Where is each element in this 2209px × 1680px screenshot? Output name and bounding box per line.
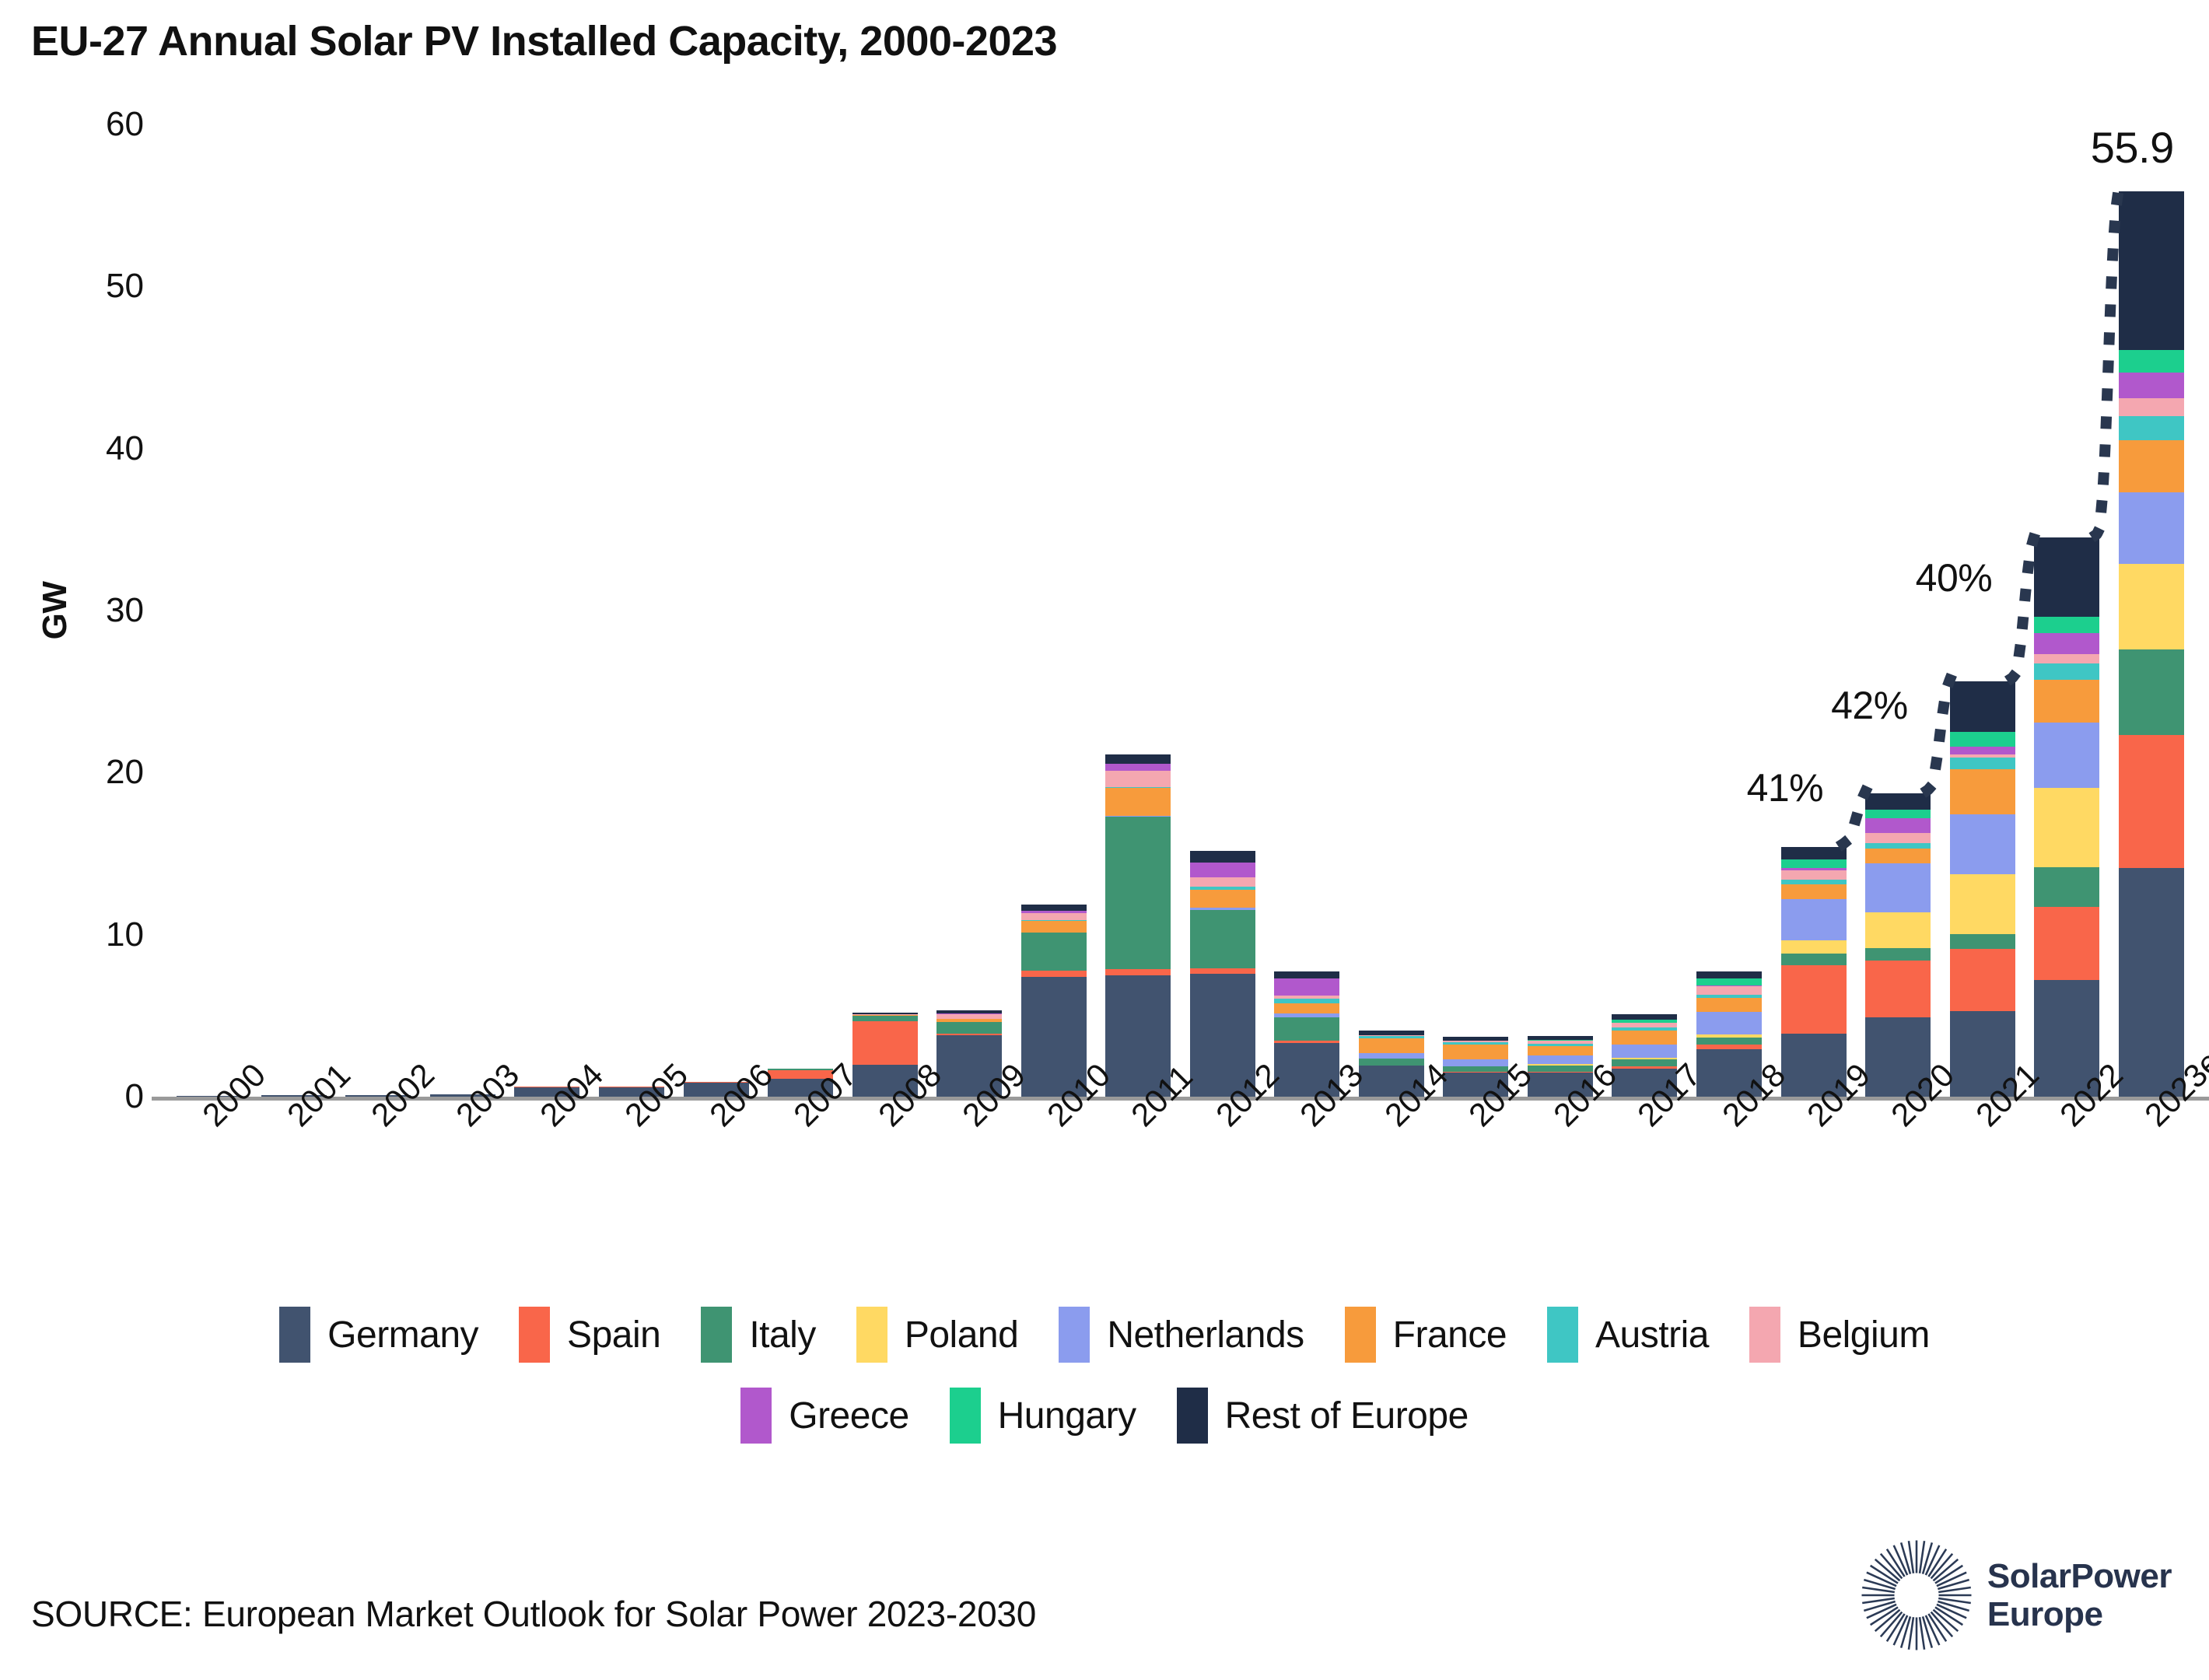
bar-segment[interactable]: [1696, 978, 1762, 985]
brand-line-1: SolarPower: [1987, 1557, 2172, 1595]
bar-segment[interactable]: [1612, 1045, 1677, 1059]
bar-segment[interactable]: [1781, 847, 1847, 859]
bar-segment[interactable]: [1274, 978, 1339, 996]
y-axis-tick: 30: [106, 591, 144, 630]
legend-item[interactable]: Rest of Europe: [1177, 1388, 1469, 1444]
bar-stack: [1190, 851, 1255, 1097]
bar-segment[interactable]: [1528, 1046, 1593, 1055]
bar-stack: [1105, 754, 1171, 1097]
legend-swatch: [701, 1307, 732, 1363]
bar-segment[interactable]: [2034, 663, 2099, 680]
bar-segment[interactable]: [2034, 537, 2099, 617]
bar-segment[interactable]: [2119, 735, 2184, 868]
bar-stack: [2119, 191, 2184, 1097]
legend-label: Rest of Europe: [1225, 1395, 1469, 1437]
bar-segment[interactable]: [1950, 769, 2015, 814]
legend-item[interactable]: Spain: [519, 1307, 660, 1363]
legend-swatch: [950, 1388, 981, 1444]
bar-segment[interactable]: [2119, 440, 2184, 492]
bar-segment[interactable]: [1950, 758, 2015, 769]
bar-segment[interactable]: [1105, 764, 1171, 771]
bar-segment[interactable]: [1696, 998, 1762, 1013]
sunburst-icon: [1858, 1537, 1975, 1654]
legend-item[interactable]: Austria: [1547, 1307, 1709, 1363]
bar-segment[interactable]: [936, 1022, 1002, 1034]
bar-segment[interactable]: [1443, 1059, 1508, 1066]
bar-segment[interactable]: [1950, 874, 2015, 934]
legend-swatch: [519, 1307, 550, 1363]
bar-segment[interactable]: [1274, 971, 1339, 978]
legend-label: Hungary: [998, 1395, 1136, 1437]
legend-item[interactable]: Netherlands: [1059, 1307, 1304, 1363]
bar-segment[interactable]: [1190, 877, 1255, 887]
bar-segment[interactable]: [1359, 1053, 1424, 1059]
bar-segment[interactable]: [1190, 863, 1255, 877]
bar-segment[interactable]: [1105, 788, 1171, 816]
legend-row-2: GreeceHungaryRest of Europe: [0, 1388, 2209, 1444]
legend-label: Germany: [327, 1314, 478, 1356]
bar-segment[interactable]: [1696, 1012, 1762, 1034]
bar-segment[interactable]: [1612, 1031, 1677, 1045]
bar-segment[interactable]: [1865, 863, 1931, 912]
y-axis: 0102030405060: [0, 124, 167, 1097]
chart-legend: GermanySpainItalyPolandNetherlandsFrance…: [0, 1307, 2209, 1468]
bar-segment[interactable]: [2034, 907, 2099, 980]
y-axis-tick: 20: [106, 753, 144, 792]
bar-stack: [1865, 793, 1931, 1097]
legend-item[interactable]: Italy: [701, 1307, 816, 1363]
bar-segment[interactable]: [852, 1016, 918, 1021]
bar-segment[interactable]: [1950, 747, 2015, 754]
legend-label: Spain: [567, 1314, 660, 1356]
bar-segment[interactable]: [1865, 843, 1931, 849]
bar-segment[interactable]: [1105, 771, 1171, 786]
bar-segment[interactable]: [2034, 788, 2099, 867]
bar-segment[interactable]: [1190, 851, 1255, 863]
brand-line-2: Europe: [1987, 1595, 2172, 1633]
legend-row-1: GermanySpainItalyPolandNetherlandsFrance…: [0, 1307, 2209, 1363]
bar-segment[interactable]: [1950, 949, 2015, 1010]
legend-item[interactable]: Belgium: [1749, 1307, 1930, 1363]
legend-item[interactable]: Hungary: [950, 1388, 1136, 1444]
growth-annotation: 42%: [1831, 683, 1908, 728]
bar-segment[interactable]: [2034, 867, 2099, 907]
bar-segment[interactable]: [1781, 884, 1847, 900]
bar-segment[interactable]: [1612, 1059, 1677, 1066]
bar-segment[interactable]: [1781, 899, 1847, 940]
bar-segment[interactable]: [1950, 681, 2015, 732]
bar-stack: [1021, 905, 1087, 1097]
bar-stack: [1781, 847, 1847, 1097]
bar-segment[interactable]: [1950, 934, 2015, 950]
legend-item[interactable]: France: [1345, 1307, 1507, 1363]
bar-segment[interactable]: [1021, 913, 1087, 920]
bar-segment[interactable]: [1359, 1059, 1424, 1066]
y-axis-tick: 0: [125, 1077, 144, 1116]
legend-label: Austria: [1595, 1314, 1709, 1356]
bar-segment[interactable]: [1865, 833, 1931, 843]
y-axis-tick: 60: [106, 105, 144, 144]
bar-segment[interactable]: [2034, 654, 2099, 663]
bar-segment[interactable]: [1696, 971, 1762, 978]
legend-swatch: [856, 1307, 887, 1363]
bar-segment[interactable]: [1190, 910, 1255, 968]
legend-swatch: [1059, 1307, 1090, 1363]
bar-segment[interactable]: [1781, 859, 1847, 868]
bar-segment[interactable]: [2119, 350, 2184, 373]
bar-segment[interactable]: [1105, 969, 1171, 975]
growth-annotation: 41%: [1747, 765, 1824, 810]
bar-segment[interactable]: [2034, 680, 2099, 723]
legend-label: Netherlands: [1107, 1314, 1304, 1356]
legend-swatch: [1345, 1307, 1376, 1363]
legend-label: Italy: [749, 1314, 816, 1356]
bar-segment[interactable]: [1950, 732, 2015, 747]
bar-segment[interactable]: [1865, 793, 1931, 810]
legend-item[interactable]: Greece: [740, 1388, 908, 1444]
bar-segment[interactable]: [2034, 617, 2099, 633]
bar-segment[interactable]: [852, 1021, 918, 1065]
bar-segment[interactable]: [1105, 817, 1171, 970]
y-axis-tick: 40: [106, 429, 144, 468]
bar-segment[interactable]: [1359, 1038, 1424, 1053]
legend-swatch: [279, 1307, 310, 1363]
legend-swatch: [1749, 1307, 1780, 1363]
bar-segment[interactable]: [1865, 961, 1931, 1017]
bar-segment[interactable]: [2119, 649, 2184, 735]
bar-segment[interactable]: [1274, 1003, 1339, 1013]
bar-segment[interactable]: [2119, 492, 2184, 564]
legend-item[interactable]: Germany: [279, 1307, 478, 1363]
bar-segment[interactable]: [1105, 754, 1171, 764]
bar-segment[interactable]: [1443, 1045, 1508, 1059]
bar-segment[interactable]: [1781, 965, 1847, 1034]
legend-label: France: [1393, 1314, 1507, 1356]
brand-logo: SolarPower Europe: [1858, 1537, 2172, 1654]
source-note: SOURCE: European Market Outlook for Sola…: [31, 1593, 1036, 1635]
growth-annotation: 40%: [1916, 555, 1993, 600]
bar-stack: [1950, 681, 2015, 1097]
bar-segment[interactable]: [1950, 814, 2015, 874]
bar-segment[interactable]: [2119, 191, 2184, 350]
bar-segment[interactable]: [1865, 948, 1931, 961]
bar-segment[interactable]: [1696, 1038, 1762, 1045]
brand-wordmark: SolarPower Europe: [1987, 1557, 2172, 1634]
bar-segment[interactable]: [1021, 905, 1087, 911]
page-title: EU-27 Annual Solar PV Installed Capacity…: [31, 17, 1057, 65]
legend-label: Belgium: [1798, 1314, 1930, 1356]
bar-segment[interactable]: [1696, 986, 1762, 995]
bar-segment[interactable]: [1781, 940, 1847, 954]
bar-segment[interactable]: [1865, 818, 1931, 833]
bar-segment[interactable]: [2119, 564, 2184, 649]
bar-segment[interactable]: [2119, 416, 2184, 440]
bar-segment[interactable]: [1865, 810, 1931, 818]
legend-label: Greece: [789, 1395, 908, 1437]
y-axis-tick: 10: [106, 915, 144, 954]
bar-segment[interactable]: [1021, 971, 1087, 977]
bar-segment[interactable]: [2034, 723, 2099, 788]
bar-segment[interactable]: [1021, 933, 1087, 970]
value-label: 55.9: [2091, 122, 2174, 173]
legend-swatch: [1177, 1388, 1208, 1444]
bar-segment[interactable]: [1781, 954, 1847, 966]
legend-item[interactable]: Poland: [856, 1307, 1018, 1363]
bar-segment[interactable]: [1528, 1055, 1593, 1064]
bar-segment[interactable]: [2119, 373, 2184, 398]
bar-segment[interactable]: [1021, 921, 1087, 933]
bar-segment[interactable]: [1865, 912, 1931, 948]
bar-segment[interactable]: [2119, 398, 2184, 416]
legend-swatch: [1547, 1307, 1578, 1363]
bar-segment[interactable]: [1190, 890, 1255, 908]
bar-segment[interactable]: [1781, 870, 1847, 880]
bar-segment[interactable]: [2119, 868, 2184, 1097]
bar-segment[interactable]: [1274, 1017, 1339, 1041]
bar-segment[interactable]: [2034, 633, 2099, 654]
plot-area: [167, 124, 2193, 1097]
y-axis-tick: 50: [106, 267, 144, 306]
bar-segment[interactable]: [1865, 849, 1931, 864]
legend-swatch: [740, 1388, 772, 1444]
legend-label: Poland: [905, 1314, 1018, 1356]
bar-stack: [2034, 537, 2099, 1097]
